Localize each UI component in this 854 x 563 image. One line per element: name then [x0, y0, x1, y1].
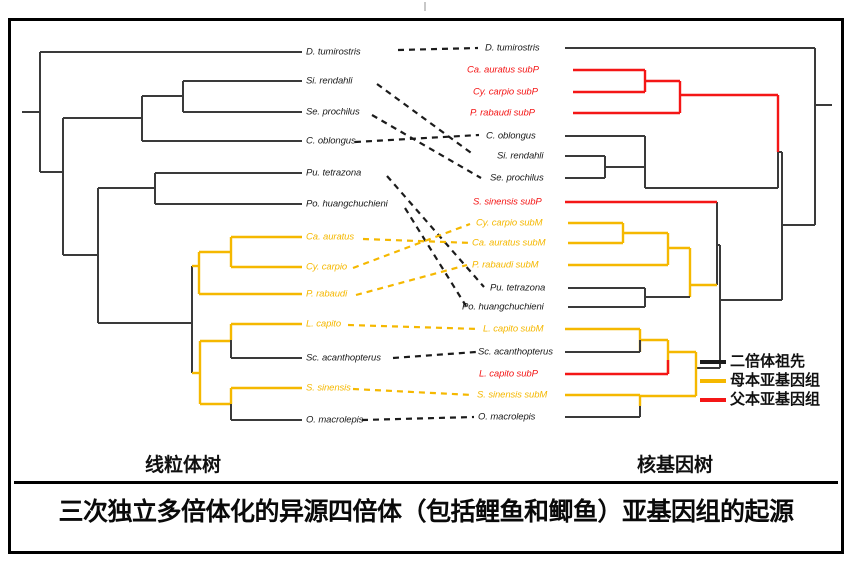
- right-leaf-label[interactable]: Ca. auratus subP: [467, 65, 539, 76]
- right-leaf-label[interactable]: Sc. acanthopterus: [478, 347, 553, 358]
- right-leaf-label[interactable]: S. sinensis subM: [477, 390, 547, 401]
- right-leaf-label[interactable]: Po. huangchuchieni: [462, 302, 544, 313]
- legend-swatch-black: [700, 360, 726, 364]
- right-leaf-label[interactable]: Cy. carpio subM: [476, 218, 542, 229]
- right-leaf-label[interactable]: D. tumirostris: [485, 43, 540, 54]
- right-leaf-label[interactable]: Ca. auratus subM: [472, 238, 545, 249]
- right-leaf-label[interactable]: P. rabaudi subM: [472, 260, 538, 271]
- caption-divider: [14, 481, 838, 484]
- right-leaf-label[interactable]: Cy. carpio subP: [473, 87, 538, 98]
- left-leaf-label[interactable]: Po. huangchuchieni: [306, 199, 388, 210]
- legend-swatch-orange: [700, 379, 726, 383]
- left-leaf-label[interactable]: Ca. auratus: [306, 232, 354, 243]
- legend-item-paternal-subgenome: 父本亚基因组: [700, 390, 830, 409]
- left-leaf-label[interactable]: C. oblongus: [306, 136, 356, 147]
- left-leaf-label[interactable]: Cy. carpio: [306, 262, 347, 273]
- left-leaf-label[interactable]: D. tumirostris: [306, 47, 361, 58]
- left-leaf-label[interactable]: Si. rendahli: [306, 76, 352, 87]
- left-tree-caption: 线粒体树: [145, 450, 221, 477]
- right-leaf-label[interactable]: L. capito subM: [483, 324, 543, 335]
- left-leaf-label[interactable]: Sc. acanthopterus: [306, 353, 381, 364]
- left-leaf-label[interactable]: O. macrolepis: [306, 415, 363, 426]
- right-tree-caption: 核基因树: [637, 450, 713, 477]
- right-leaf-label[interactable]: Si. rendahli: [497, 151, 543, 162]
- legend: 二倍体祖先 母本亚基因组 父本亚基因组: [700, 352, 830, 409]
- left-leaf-label[interactable]: S. sinensis: [306, 383, 351, 394]
- left-leaf-label[interactable]: L. capito: [306, 319, 341, 330]
- legend-item-diploid-ancestor: 二倍体祖先: [700, 352, 830, 371]
- legend-item-maternal-subgenome: 母本亚基因组: [700, 371, 830, 390]
- top-strip: [0, 0, 854, 16]
- left-leaf-label[interactable]: Se. prochilus: [306, 107, 360, 118]
- right-leaf-label[interactable]: P. rabaudi subP: [470, 108, 535, 119]
- legend-label: 父本亚基因组: [730, 392, 820, 407]
- figure-root: D. tumirostris Si. rendahli Se. prochilu…: [0, 0, 854, 563]
- left-leaf-label[interactable]: Pu. tetrazona: [306, 168, 361, 179]
- right-leaf-label[interactable]: O. macrolepis: [478, 412, 535, 423]
- legend-label: 母本亚基因组: [730, 373, 820, 388]
- right-leaf-label[interactable]: S. sinensis subP: [473, 197, 542, 208]
- right-leaf-label[interactable]: Pu. tetrazona: [490, 283, 545, 294]
- left-leaf-label[interactable]: P. rabaudi: [306, 289, 347, 300]
- figure-caption: 三次独立多倍体化的异源四倍体（包括鲤鱼和鲫鱼）亚基因组的起源: [14, 492, 838, 528]
- figure-frame: [8, 18, 844, 554]
- right-leaf-label[interactable]: L. capito subP: [479, 369, 538, 380]
- top-tick-mark: [424, 2, 426, 11]
- legend-swatch-red: [700, 398, 726, 402]
- right-leaf-label[interactable]: Se. prochilus: [490, 173, 544, 184]
- legend-label: 二倍体祖先: [730, 354, 805, 369]
- right-leaf-label[interactable]: C. oblongus: [486, 131, 536, 142]
